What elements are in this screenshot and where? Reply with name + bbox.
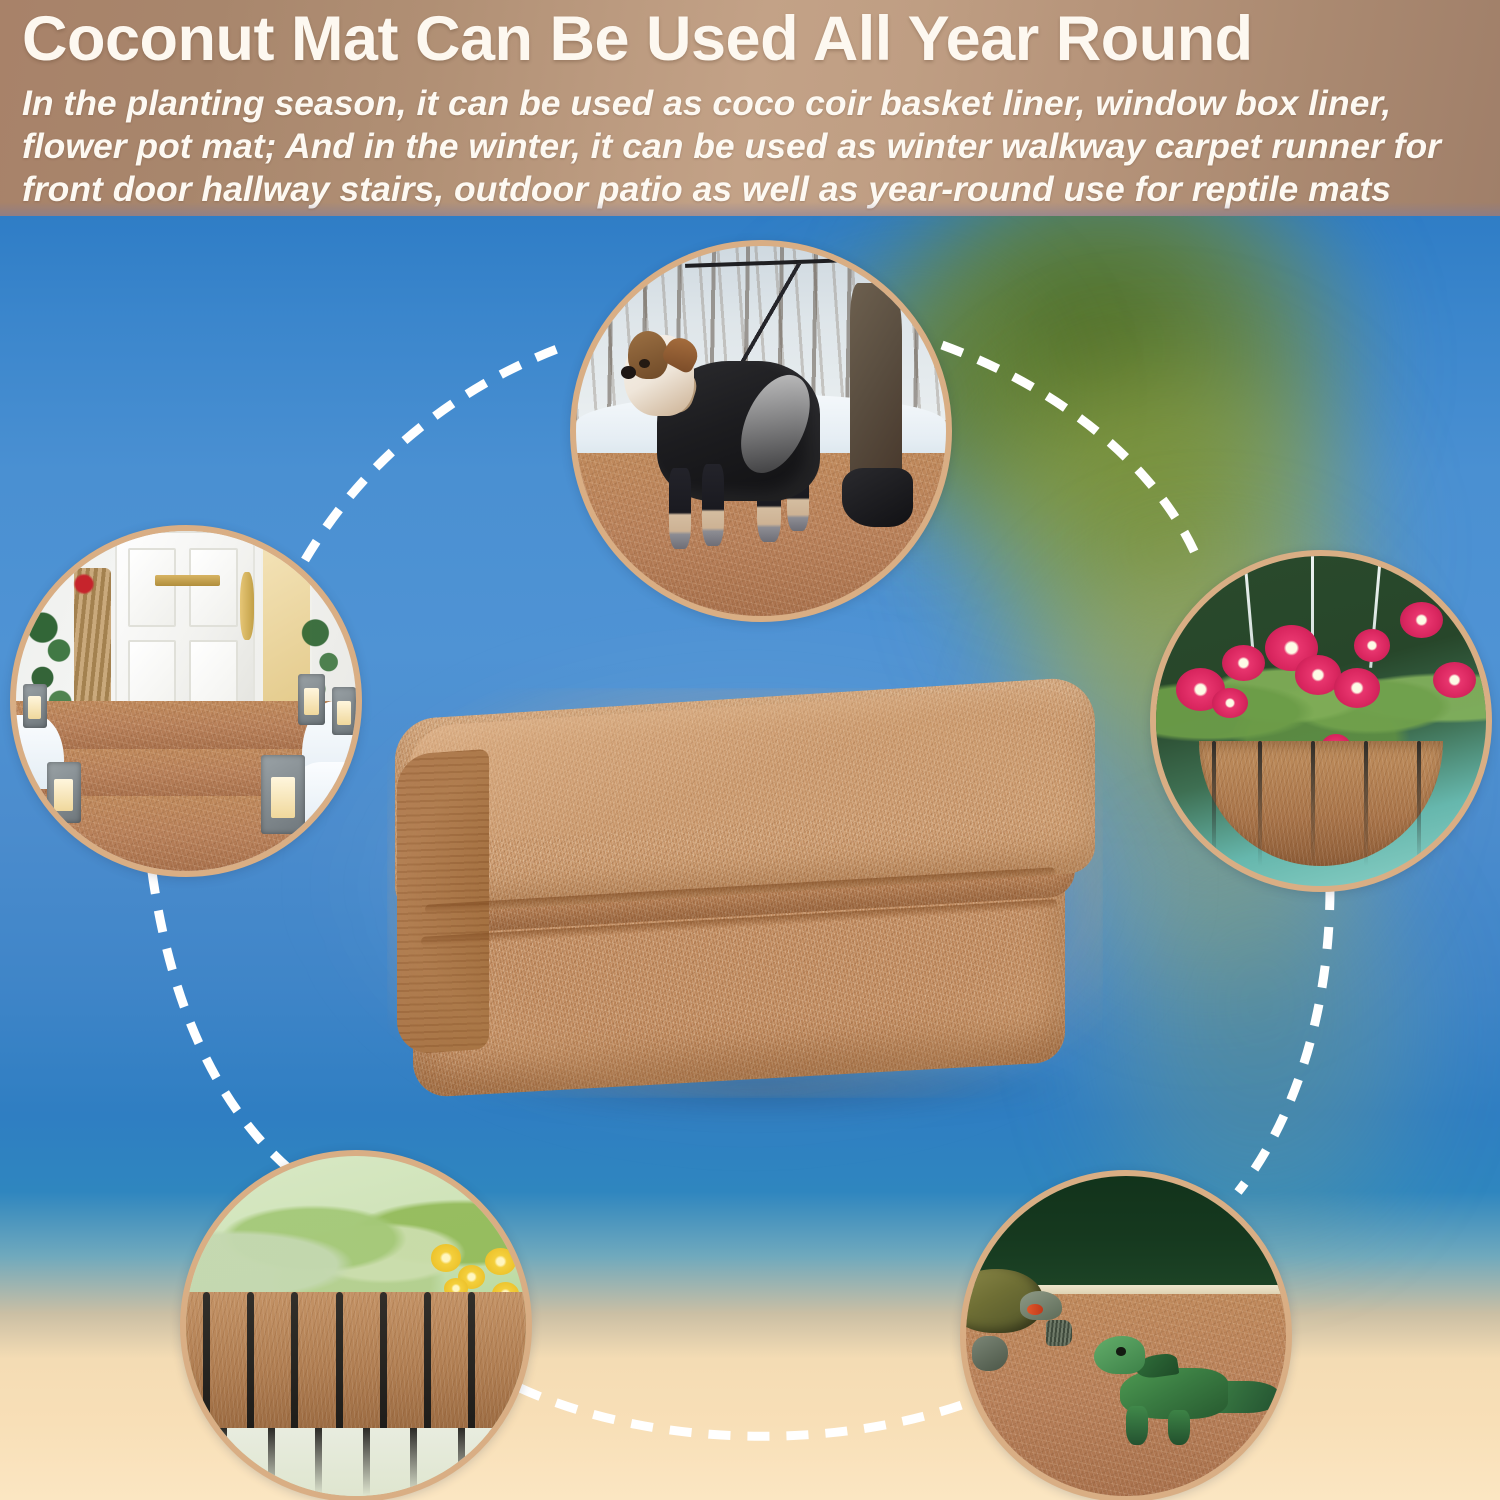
product-hero-folded-coir-mat[interactable] — [385, 680, 1140, 1130]
person-boot — [842, 468, 912, 527]
door-panel-inset — [189, 548, 237, 627]
basket-frame-rib — [1417, 741, 1421, 866]
lizard-leg — [1168, 1410, 1190, 1445]
turtle-leg — [972, 1336, 1007, 1371]
header-banner: Coconut Mat Can Be Used All Year Round I… — [0, 0, 1500, 216]
yellow-flower — [485, 1248, 516, 1275]
mail-slot-icon — [155, 575, 220, 586]
railing-bar — [363, 1428, 370, 1496]
door-panel-inset — [128, 548, 176, 627]
page-description: In the planting season, it can be used a… — [22, 82, 1484, 211]
product-infographic: Coconut Mat Can Be Used All Year Round I… — [0, 0, 1500, 1500]
dog-leg — [669, 468, 691, 549]
palm-foliage-blur-icon — [880, 216, 1360, 586]
lantern-icon — [47, 762, 81, 823]
lantern-icon — [332, 687, 356, 735]
pink-petunia-flower — [1334, 668, 1380, 708]
lantern-icon — [298, 674, 325, 725]
page-title: Coconut Mat Can Be Used All Year Round — [22, 2, 1482, 76]
door-handle-icon — [240, 572, 254, 640]
railing-bar — [220, 1428, 227, 1496]
lantern-icon — [23, 684, 47, 728]
lizard-leg — [1126, 1406, 1148, 1444]
railing-backdrop — [186, 1428, 526, 1496]
pink-petunia-flower — [1354, 629, 1390, 662]
leash-icon — [685, 258, 852, 379]
callout-winter-dog-walkway[interactable] — [570, 240, 952, 622]
basket-frame-rib — [1258, 741, 1262, 866]
callout-reptile-mat[interactable] — [960, 1170, 1292, 1500]
basket-frame-rib — [1311, 741, 1315, 866]
turtle-foot — [1046, 1320, 1072, 1346]
red-bow-icon — [70, 572, 97, 596]
lantern-icon — [261, 755, 305, 833]
planter-frame-rib — [380, 1292, 387, 1442]
pink-petunia-flower — [1212, 688, 1248, 718]
dog-leg — [702, 464, 724, 545]
person-leg — [850, 283, 902, 498]
turtle-red-ear-marking — [1027, 1304, 1043, 1315]
callout-window-box-liner[interactable] — [180, 1150, 532, 1500]
planter-frame-rib — [336, 1292, 343, 1442]
basket-frame-rib — [1212, 741, 1216, 866]
planter-frame-rib — [247, 1292, 254, 1442]
callout-hanging-basket-liner[interactable] — [1150, 550, 1492, 892]
railing-bar — [410, 1428, 417, 1496]
planter-frame-rib — [291, 1292, 298, 1442]
callout-front-door-stairs[interactable] — [10, 525, 362, 877]
planter-frame-rib — [424, 1292, 431, 1442]
planter-frame-rib — [203, 1292, 210, 1442]
pink-petunia-flower — [1433, 662, 1476, 698]
basket-frame-rib — [1364, 741, 1368, 866]
railing-bar — [458, 1428, 465, 1496]
lizard-eye — [1116, 1347, 1126, 1355]
yellow-flower — [431, 1244, 462, 1271]
planter-frame-rib — [468, 1292, 475, 1442]
pink-petunia-flower — [1222, 645, 1265, 681]
railing-bar — [268, 1428, 275, 1496]
railing-bar — [315, 1428, 322, 1496]
dog-nose — [621, 366, 636, 379]
